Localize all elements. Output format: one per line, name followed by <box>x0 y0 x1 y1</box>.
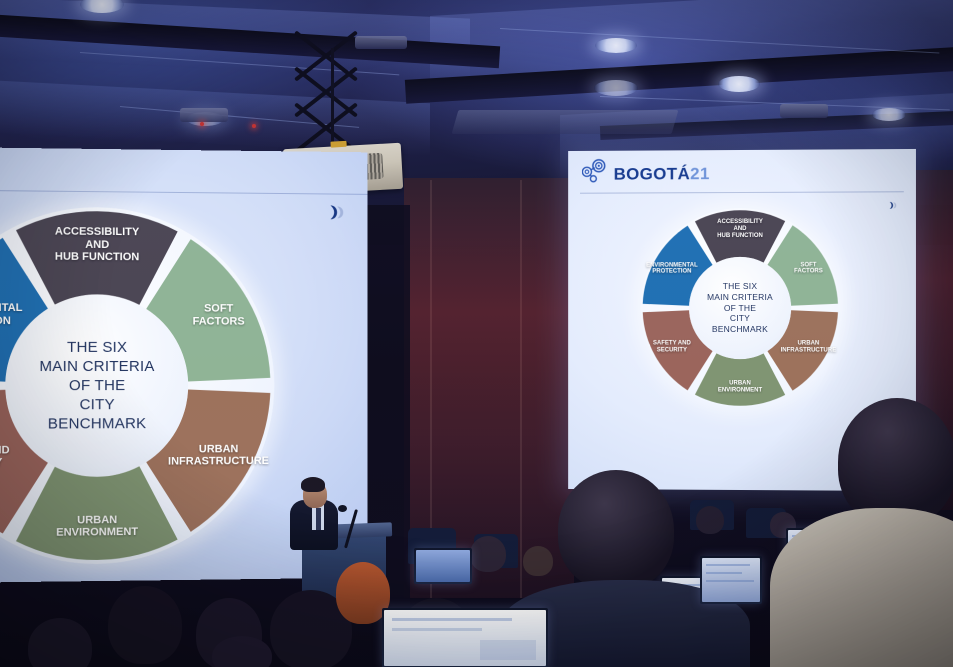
connected-nodes-icon <box>582 159 608 190</box>
six-criteria-wheel: THE SIX MAIN CRITERIA OF THE CITY BENCHM… <box>0 206 274 566</box>
ceiling-vent <box>780 104 828 118</box>
wood-seam <box>520 180 522 598</box>
wheel-segment-label: ENVIRONMENTAL PROTECTION <box>641 262 703 276</box>
audience-head <box>696 506 724 534</box>
downlight <box>718 76 760 92</box>
chevron-mark-icon <box>327 203 351 226</box>
brand-name: BOGOTÁ21 <box>614 164 710 184</box>
foreground-head <box>838 398 953 526</box>
wheel-segment-label: URBAN INFRASTRUCTURE <box>777 341 839 355</box>
six-criteria-wheel: THE SIX MAIN CRITERIA OF THE CITY BENCHM… <box>640 208 840 409</box>
laptop <box>414 548 472 584</box>
laptop <box>700 556 762 604</box>
brand-suffix: 21 <box>690 164 710 183</box>
audience-head <box>470 536 506 572</box>
speaker-hair <box>301 477 325 492</box>
wheel-hub: THE SIX MAIN CRITERIA OF THE CITY BENCHM… <box>689 257 791 359</box>
audience-head <box>108 586 182 664</box>
brand-bar: BOGOTÁ21 <box>582 158 710 190</box>
laptop-screen <box>416 550 470 582</box>
wheel-segment-label: ACCESSIBILITY AND HUB FUNCTION <box>42 226 153 264</box>
projector-label <box>330 141 346 148</box>
wheel-hub-text: THE SIX MAIN CRITERIA OF THE CITY BENCHM… <box>39 337 154 434</box>
wheel-segment-label: ENVIRONMENTAL PROTECTION <box>0 302 30 327</box>
foreground-head <box>558 470 674 590</box>
ceiling-duct <box>452 110 679 134</box>
wheel-segment-label: ACCESSIBILITY AND HUB FUNCTION <box>709 219 771 239</box>
laptop-screen <box>702 558 760 602</box>
laptop-screen <box>384 610 546 666</box>
downlight <box>872 108 906 121</box>
status-led <box>200 122 204 126</box>
wheel-segment-label: SAFETY AND SECURITY <box>0 444 30 470</box>
wheel-hub-text: THE SIX MAIN CRITERIA OF THE CITY BENCHM… <box>707 281 773 335</box>
wheel-segment-label: URBAN ENVIRONMENT <box>709 380 771 394</box>
audience-head <box>523 546 553 576</box>
wheel-segment-label: SOFT FACTORS <box>777 262 839 276</box>
status-led <box>252 124 256 128</box>
ceiling-vent <box>180 108 228 122</box>
wheel-segment-label: URBAN ENVIRONMENT <box>42 513 153 539</box>
laptop <box>382 608 548 667</box>
downlight <box>594 80 638 96</box>
wheel-hub: THE SIX MAIN CRITERIA OF THE CITY BENCHM… <box>5 294 188 477</box>
wheel-segment-label: URBAN INFRASTRUCTURE <box>164 443 273 468</box>
chevron-mark-icon <box>888 197 900 215</box>
speaker-tie <box>316 508 321 530</box>
microphone-head <box>338 505 347 512</box>
wheel-segment-label: SOFT FACTORS <box>164 303 273 328</box>
screenshot-root: THE SIX MAIN CRITERIA OF THE CITY BENCHM… <box>0 0 953 667</box>
wheel-segment-label: SAFETY AND SECURITY <box>641 341 703 354</box>
downlight <box>595 38 637 53</box>
